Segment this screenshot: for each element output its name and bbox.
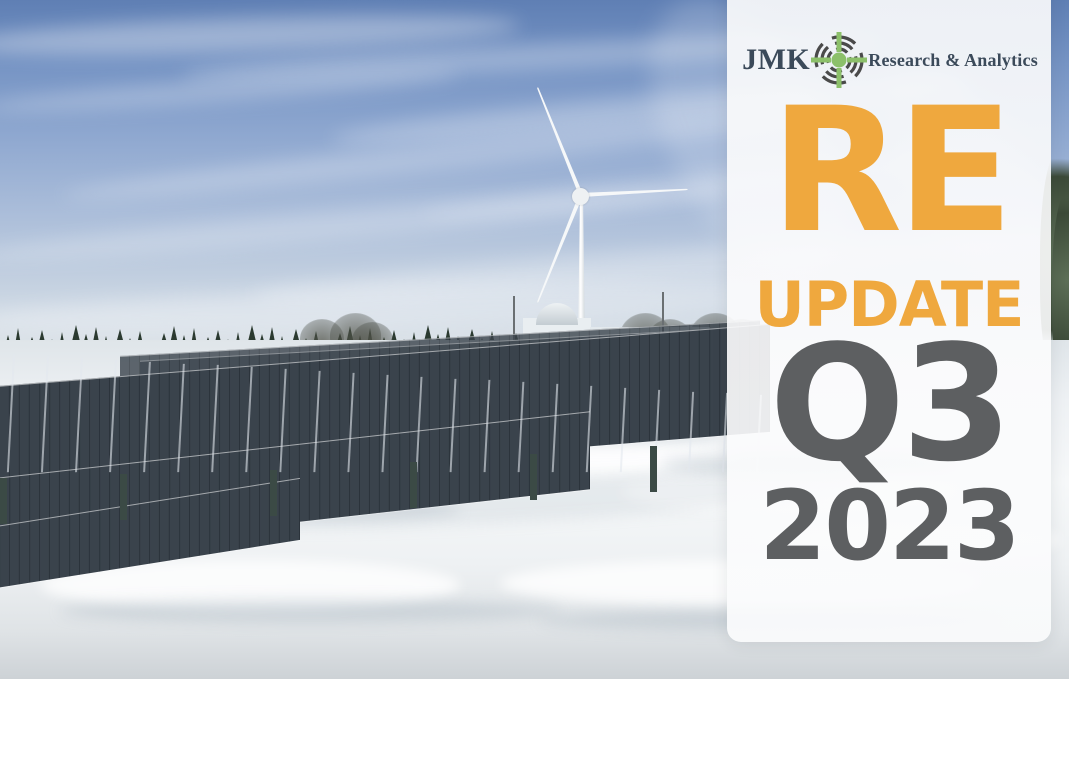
cover-year: 2023 bbox=[727, 478, 1051, 574]
cover-card: JMK Research & A bbox=[727, 0, 1051, 642]
cover-title-re: RE bbox=[727, 100, 1051, 241]
cover-page: JMK Research & A bbox=[0, 0, 1069, 757]
solar-panel-array bbox=[0, 328, 770, 548]
sponsor-bar: Lead Sponsors SUNGROW Clean power for al… bbox=[0, 679, 1069, 757]
research-analytics-wordmark: Research & Analytics bbox=[868, 50, 1038, 71]
cover-quarter: Q3 bbox=[727, 324, 1051, 484]
